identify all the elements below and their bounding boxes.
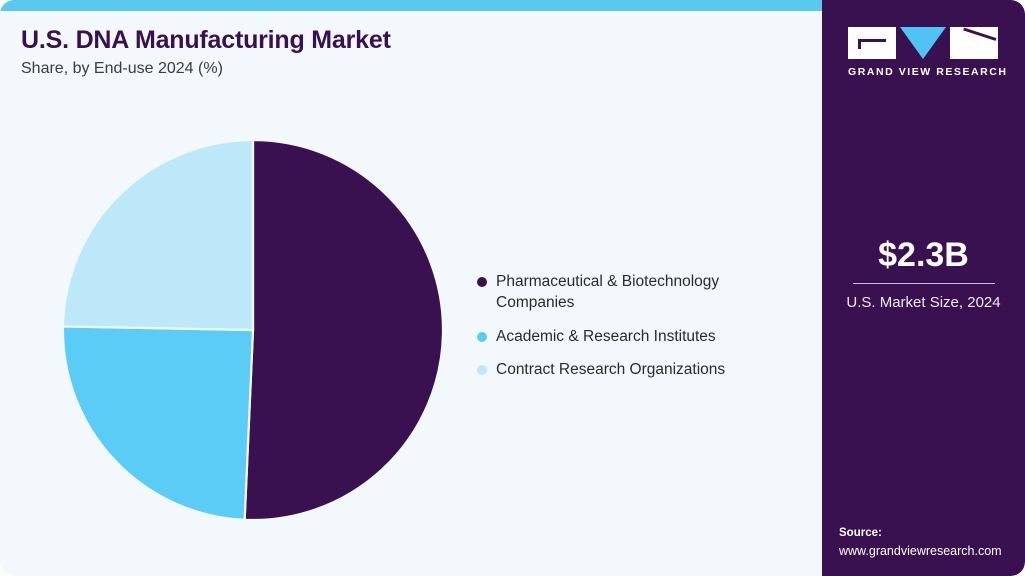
pie-chart bbox=[55, 132, 455, 532]
source-title: Source: bbox=[839, 525, 1025, 542]
source-block: Source: www.grandviewresearch.com bbox=[839, 525, 1025, 560]
chart-legend: Pharmaceutical & Biotechnology Companies… bbox=[477, 272, 797, 394]
legend-item[interactable]: Pharmaceutical & Biotechnology Companies bbox=[477, 272, 797, 314]
legend-swatch-icon bbox=[477, 365, 487, 375]
legend-item-label: Academic & Research Institutes bbox=[496, 327, 716, 348]
source-url[interactable]: www.grandviewresearch.com bbox=[839, 542, 1025, 560]
legend-item-label: Contract Research Organizations bbox=[496, 360, 725, 381]
pie-chart-svg bbox=[55, 132, 455, 532]
letter-r-icon bbox=[950, 27, 998, 59]
logo-marks bbox=[848, 27, 998, 59]
legend-item[interactable]: Academic & Research Institutes bbox=[477, 327, 797, 348]
top-accent-bar bbox=[0, 0, 822, 11]
legend-swatch-icon bbox=[477, 332, 487, 342]
logo-wordmark: GRAND VIEW RESEARCH bbox=[848, 66, 998, 78]
gvr-logo: GRAND VIEW RESEARCH bbox=[848, 27, 998, 78]
brand-panel: GRAND VIEW RESEARCH $2.3B U.S. Market Si… bbox=[822, 0, 1025, 576]
pie-slice[interactable] bbox=[63, 140, 253, 330]
letter-v-triangle-icon bbox=[900, 27, 946, 59]
stat-divider bbox=[853, 283, 995, 284]
legend-swatch-icon bbox=[477, 277, 487, 287]
legend-item-label: Pharmaceutical & Biotechnology Companies bbox=[496, 272, 771, 314]
market-size-stat: $2.3B U.S. Market Size, 2024 bbox=[822, 238, 1025, 313]
stat-label: U.S. Market Size, 2024 bbox=[822, 293, 1025, 313]
legend-item[interactable]: Contract Research Organizations bbox=[477, 360, 797, 381]
stat-value: $2.3B bbox=[822, 238, 1025, 272]
page-subtitle: Share, by End-use 2024 (%) bbox=[21, 60, 223, 78]
page-title: U.S. DNA Manufacturing Market bbox=[21, 26, 391, 55]
triangle-icon bbox=[900, 27, 946, 59]
pie-slice[interactable] bbox=[245, 140, 443, 520]
letter-g-icon bbox=[848, 27, 896, 59]
pie-slice[interactable] bbox=[63, 326, 253, 519]
chart-card: U.S. DNA Manufacturing Market Share, by … bbox=[0, 0, 1025, 576]
